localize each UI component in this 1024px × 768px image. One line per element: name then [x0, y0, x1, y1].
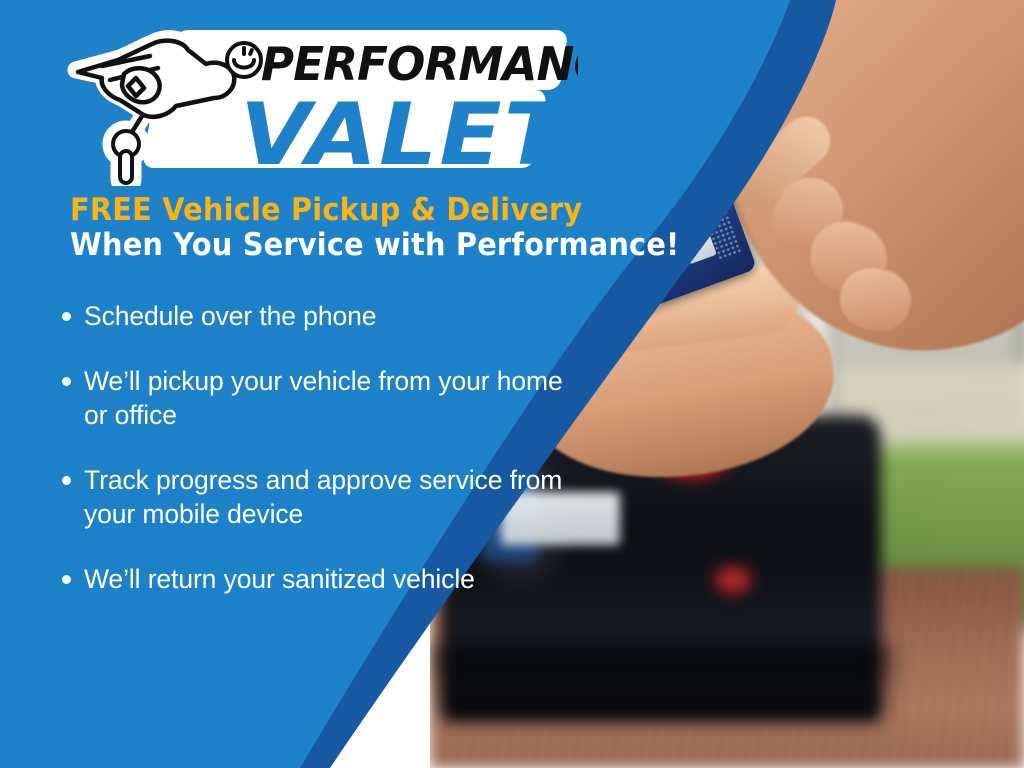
- bullet-dot-icon: [62, 312, 71, 321]
- bullet-dot-icon: [62, 377, 71, 386]
- headline-line-1: FREE Vehicle Pickup & Delivery: [70, 194, 647, 227]
- list-item: Schedule over the phone: [62, 300, 582, 333]
- benefit-text: We’ll return your sanitized vehicle: [84, 563, 475, 596]
- logo-valet-text: VALET: [240, 84, 573, 184]
- benefits-list: Schedule over the phone We’ll pickup you…: [62, 300, 582, 596]
- banner-content: PERFORMANCE VALET FREE Vehicle Pickup & …: [0, 0, 700, 768]
- benefit-text: Track progress and approve service from …: [84, 464, 582, 531]
- benefit-text: We’ll pickup your vehicle from your home…: [84, 365, 582, 432]
- logo-performance-text: PERFORMANCE: [261, 38, 578, 91]
- list-item: Track progress and approve service from …: [62, 464, 582, 531]
- benefit-text: Schedule over the phone: [84, 300, 376, 333]
- bullet-dot-icon: [62, 476, 71, 485]
- performance-valet-banner: PERFORMANCE VALET FREE Vehicle Pickup & …: [0, 0, 1024, 768]
- list-item: We’ll pickup your vehicle from your home…: [62, 365, 582, 432]
- performance-smile-badge-icon: [227, 43, 261, 77]
- headline-line-2: When You Service with Performance!: [70, 227, 647, 265]
- logo-svg: PERFORMANCE VALET: [58, 18, 578, 186]
- performance-valet-logo[interactable]: PERFORMANCE VALET: [58, 18, 578, 186]
- bullet-dot-icon: [62, 575, 71, 584]
- headline-block: FREE Vehicle Pickup & Delivery When You …: [70, 194, 690, 265]
- list-item: We’ll return your sanitized vehicle: [62, 563, 582, 596]
